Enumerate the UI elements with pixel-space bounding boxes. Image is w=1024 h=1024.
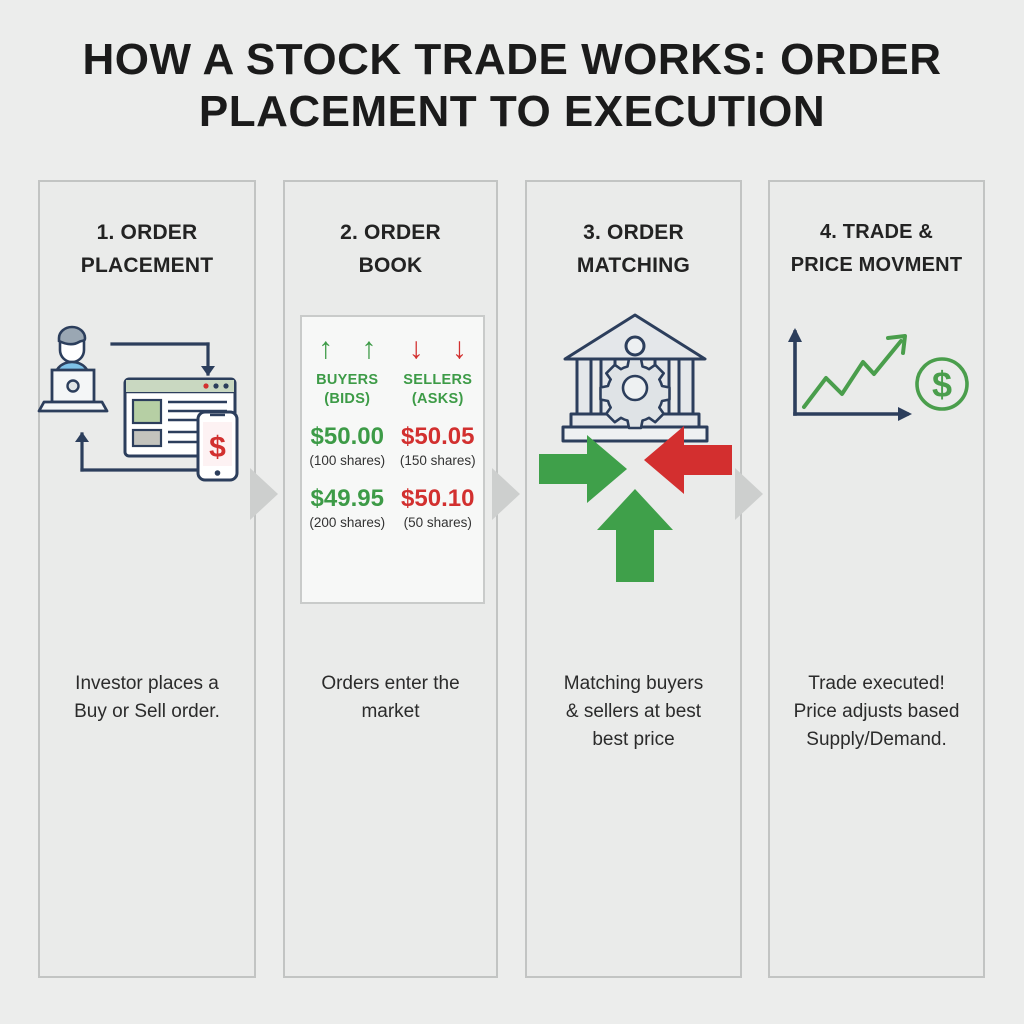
step-connector-chevron-icon bbox=[250, 468, 278, 520]
step-caption: Investor places a Buy or Sell order. bbox=[50, 670, 244, 726]
ask-shares: (50 shares) bbox=[393, 513, 484, 533]
up-arrow-icon: ↑ ↑ bbox=[302, 327, 393, 371]
dollar-circle-icon: $ bbox=[917, 359, 967, 409]
step-caption: Orders enter the market bbox=[295, 670, 486, 726]
ask-price: $50.05 bbox=[393, 423, 484, 451]
green-up-arrow-icon bbox=[597, 489, 673, 582]
smartphone-dollar-icon: $ bbox=[198, 412, 237, 480]
down-arrow-icon: ↓ ↓ bbox=[393, 327, 484, 371]
bid-level-row: $49.95 (200 shares) bbox=[302, 485, 393, 533]
step-heading: 3. ORDER MATCHING bbox=[535, 216, 732, 282]
gear-icon bbox=[601, 359, 670, 428]
step-connector-chevron-icon bbox=[735, 468, 763, 520]
step-connector-chevron-icon bbox=[492, 468, 520, 520]
bid-price: $49.95 bbox=[302, 485, 393, 513]
bid-shares: (100 shares) bbox=[302, 451, 393, 471]
step-panel-trade-price-movement[interactable]: 4. TRADE & PRICE MOVMENT $ Trade execute… bbox=[768, 180, 985, 978]
step-caption: Trade executed! Price adjusts based Supp… bbox=[780, 670, 973, 754]
bids-header: BUYERS (BIDS) bbox=[302, 371, 393, 409]
flow-arrow-icon bbox=[112, 344, 215, 376]
step-panel-order-matching[interactable]: 3. ORDER MATCHING bbox=[525, 180, 742, 978]
trend-line-icon bbox=[804, 336, 905, 407]
order-book-card[interactable]: ↑ ↑ BUYERS (BIDS) $50.00 (100 shares) $4… bbox=[300, 315, 485, 604]
ask-level-row: $50.05 (150 shares) bbox=[393, 423, 484, 471]
ask-shares: (150 shares) bbox=[393, 451, 484, 471]
bid-price: $50.00 bbox=[302, 423, 393, 451]
axis-icon bbox=[788, 328, 912, 421]
green-right-arrow-icon bbox=[539, 435, 627, 503]
step-heading: 1. ORDER PLACEMENT bbox=[48, 216, 246, 282]
asks-header: SELLERS (ASKS) bbox=[393, 371, 484, 409]
investor-laptop-icon bbox=[39, 327, 107, 411]
order-book-bids-column: ↑ ↑ BUYERS (BIDS) $50.00 (100 shares) $4… bbox=[302, 327, 393, 602]
price-movement-illustration: $ bbox=[770, 302, 983, 632]
order-matching-illustration bbox=[527, 302, 740, 632]
step-heading: 2. ORDER BOOK bbox=[293, 216, 488, 282]
step-panel-order-placement[interactable]: 1. ORDER PLACEMENT bbox=[38, 180, 256, 978]
bid-shares: (200 shares) bbox=[302, 513, 393, 533]
order-book-asks-column: ↓ ↓ SELLERS (ASKS) $50.05 (150 shares) $… bbox=[393, 327, 484, 602]
step-caption: Matching buyers & sellers at best best p… bbox=[537, 670, 730, 754]
page-title: HOW A STOCK TRADE WORKS: ORDER PLACEMENT… bbox=[62, 34, 962, 138]
bid-level-row: $50.00 (100 shares) bbox=[302, 423, 393, 471]
ask-level-row: $50.10 (50 shares) bbox=[393, 485, 484, 533]
svg-text:$: $ bbox=[209, 431, 226, 464]
order-placement-illustration: $ bbox=[40, 302, 254, 632]
step-panel-order-book[interactable]: 2. ORDER BOOK ↑ ↑ BUYERS (BIDS) $50.00 (… bbox=[283, 180, 498, 978]
svg-text:$: $ bbox=[932, 364, 952, 405]
ask-price: $50.10 bbox=[393, 485, 484, 513]
step-heading: 4. TRADE & PRICE MOVMENT bbox=[778, 216, 975, 282]
